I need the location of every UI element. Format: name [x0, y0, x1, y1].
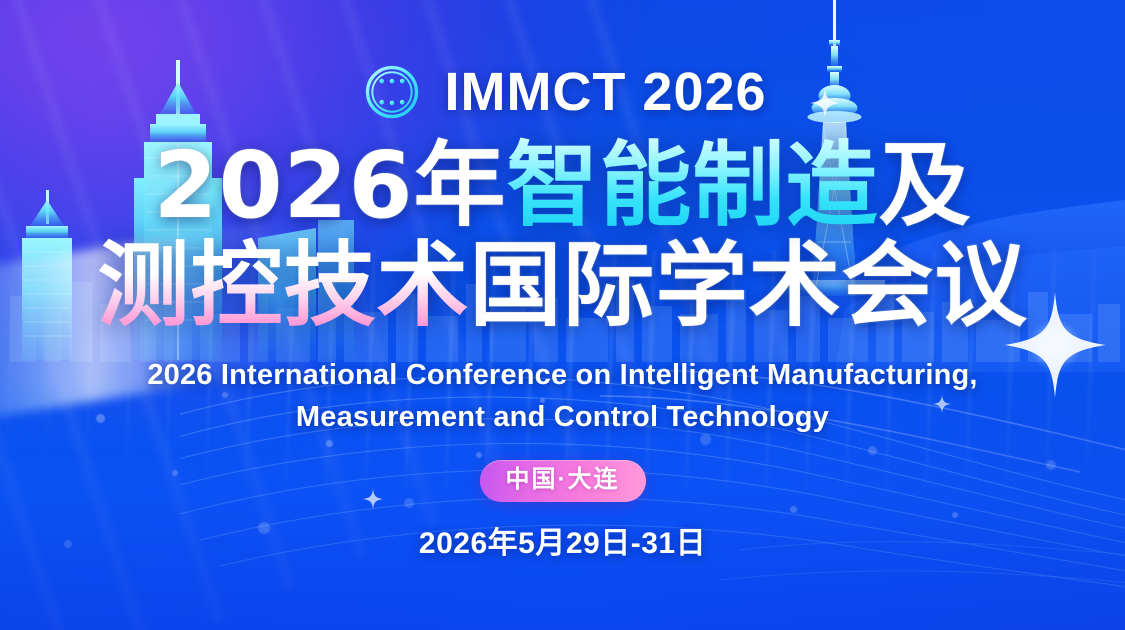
chinese-title-line-2: 测控技术国际学术会议 — [97, 238, 1027, 334]
conference-acronym: IMMCT 2026 — [444, 65, 766, 119]
chinese-title: 2026年智能制造及 测控技术国际学术会议 — [97, 138, 1027, 333]
english-title: 2026 International Conference on Intelli… — [147, 355, 977, 437]
location-badge: 中国·大连 — [480, 460, 646, 502]
cn-seg-intelligent-mfg: 智能制造 — [507, 132, 879, 239]
conference-date: 2026年5月29日-31日 — [419, 518, 706, 562]
chinese-title-line-1: 2026年智能制造及 — [97, 138, 1027, 234]
cn-seg-measure-control: 测控技术 — [97, 232, 469, 339]
cn-seg-intl-conference: 国际学术会议 — [470, 232, 1028, 339]
english-title-line-1: 2026 International Conference on Intelli… — [147, 355, 977, 396]
banner-content: IMMCT 2026 2026年智能制造及 测控技术国际学术会议 2026 In… — [0, 0, 1125, 630]
cn-seg-year: 2026年 — [153, 132, 506, 239]
conference-banner: IMMCT 2026 2026年智能制造及 测控技术国际学术会议 2026 In… — [0, 0, 1125, 630]
logo-row: IMMCT 2026 — [358, 58, 766, 126]
english-title-line-2: Measurement and Control Technology — [147, 397, 977, 438]
cn-seg-and: 及 — [879, 132, 972, 239]
gear-circuit-icon — [358, 58, 426, 126]
